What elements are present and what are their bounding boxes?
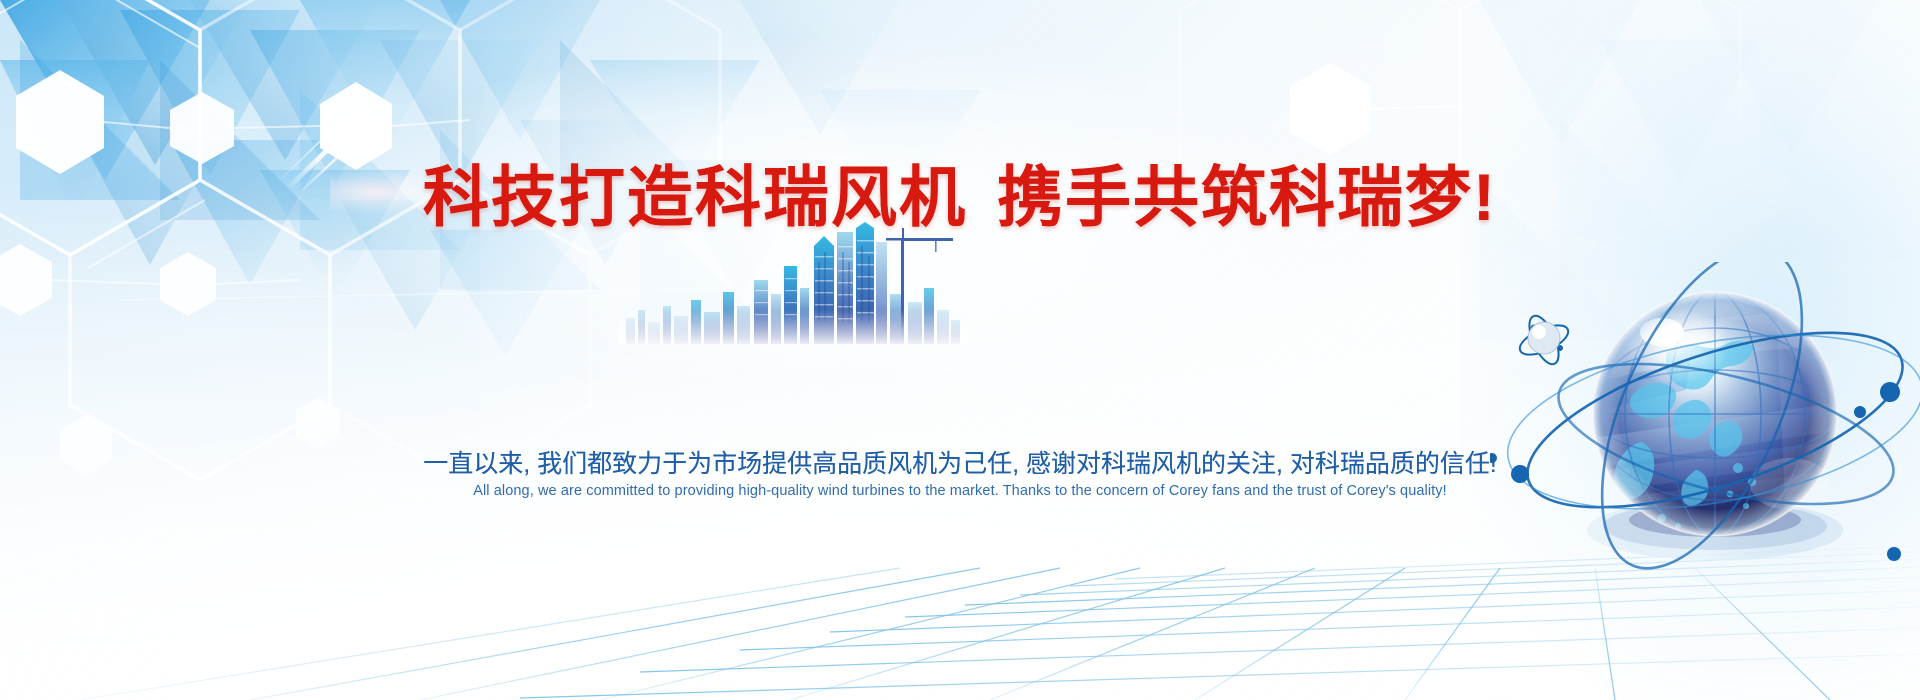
- subtitle-chinese: 一直以来, 我们都致力于为市场提供高品质风机为己任, 感谢对科瑞风机的关注, 对…: [0, 448, 1920, 482]
- cityscape-graphic: [618, 222, 968, 344]
- headline-part-two: 携手共筑科瑞梦!: [997, 160, 1497, 234]
- triangle-pattern-layer: [0, 0, 1920, 700]
- globe-graphic: [1490, 262, 1920, 592]
- promo-banner: 科技打造科瑞风机携手共筑科瑞梦! 一直以来, 我们都致力于为市场提供高品质风机为…: [0, 0, 1920, 700]
- page-title: 科技打造科瑞风机携手共筑科瑞梦!: [0, 162, 1920, 233]
- light-streak-layer: [0, 0, 1920, 700]
- right-glow: [1460, 0, 1920, 700]
- headline-part-one: 科技打造科瑞风机: [423, 160, 967, 234]
- subtitle-english: All along, we are committed to providing…: [0, 483, 1920, 499]
- hexagon-pattern-layer: [0, 0, 1920, 700]
- bottom-glow: [0, 370, 1400, 700]
